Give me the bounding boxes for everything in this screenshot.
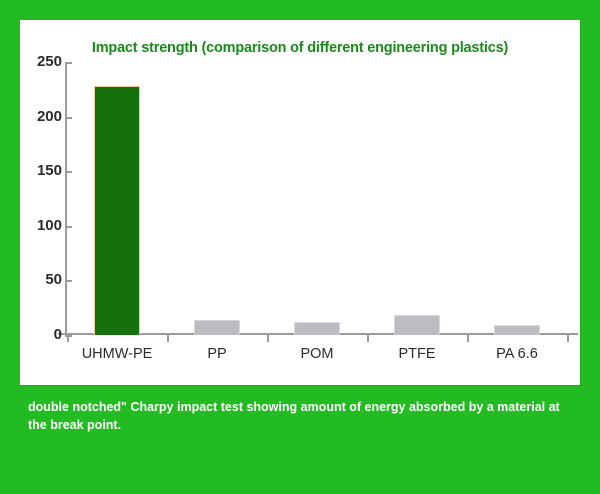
chart-caption: double notched" Charpy impact test showi… — [28, 398, 573, 434]
y-tick-label: 200 — [37, 108, 62, 125]
x-axis-label: UHMW-PE — [67, 346, 167, 362]
chart-frame: Impact strength (comparison of different… — [0, 0, 600, 494]
x-tick-mark — [467, 335, 469, 342]
x-axis-label: PP — [167, 346, 267, 362]
bar-series — [67, 62, 567, 335]
y-tick-label: 0 — [54, 326, 62, 343]
bar-slot — [267, 62, 367, 335]
y-tick-label: 100 — [37, 217, 62, 234]
x-tick-mark — [367, 335, 369, 342]
x-tick-mark — [267, 335, 269, 342]
bar-slot — [367, 62, 467, 335]
bar-uhmw-pe — [94, 86, 140, 335]
bar-ptfe — [394, 315, 440, 335]
bar-slot — [67, 62, 167, 335]
x-tick-mark — [167, 335, 169, 342]
bar-pa-6-6 — [494, 325, 540, 335]
x-axis-label: PA 6.6 — [467, 346, 567, 362]
x-tick-mark — [567, 335, 569, 342]
bar-pp — [194, 320, 240, 335]
bar-slot — [167, 62, 267, 335]
x-tick-mark — [67, 335, 69, 342]
x-axis-labels: UHMW-PEPPPOMPTFEPA 6.6 — [67, 346, 567, 370]
bar-pom — [294, 322, 340, 335]
y-tick-label: 250 — [37, 53, 62, 70]
x-axis-label: PTFE — [367, 346, 467, 362]
bar-slot — [467, 62, 567, 335]
y-tick-label: 50 — [45, 271, 62, 288]
plot-area: 050100150200250 UHMW-PEPPPOMPTFEPA 6.6 — [20, 20, 580, 385]
chart-panel: Impact strength (comparison of different… — [20, 20, 580, 385]
x-axis-label: POM — [267, 346, 367, 362]
y-tick-label: 150 — [37, 162, 62, 179]
